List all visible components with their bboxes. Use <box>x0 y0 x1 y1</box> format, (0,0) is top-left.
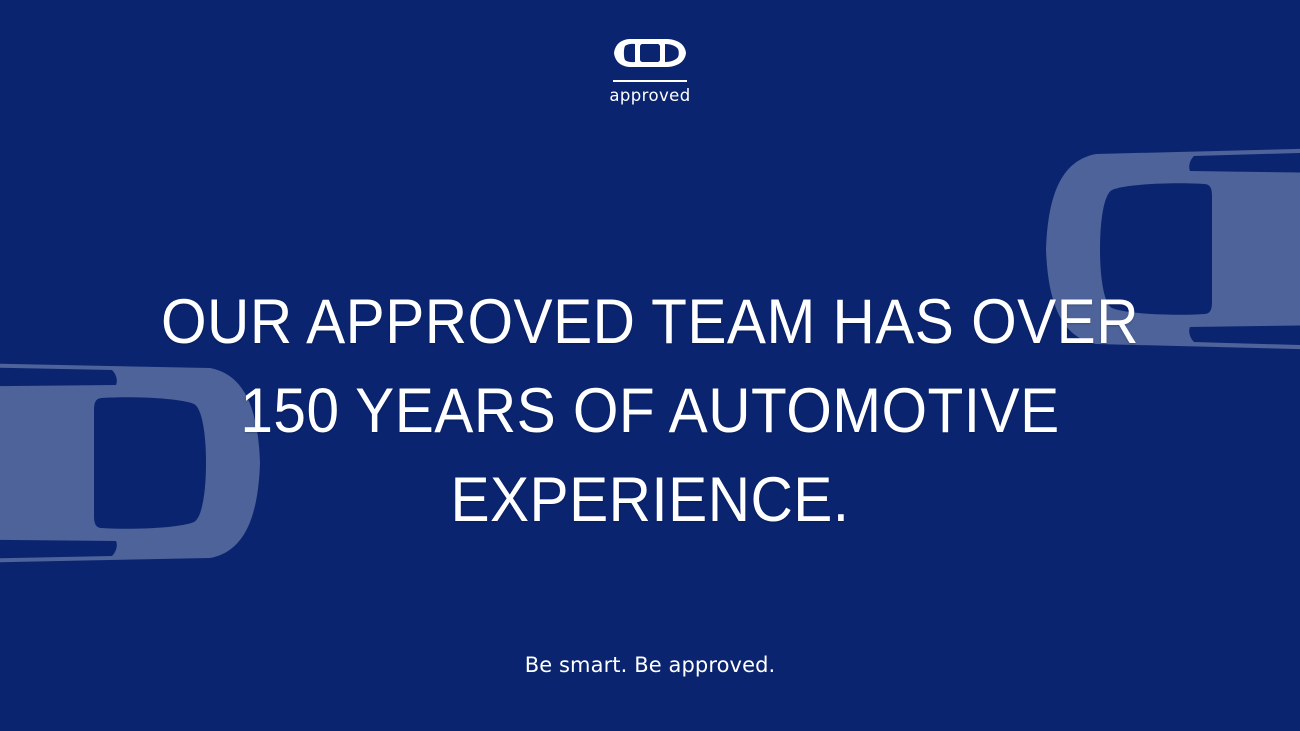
slide-canvas: approved OUR APPROVED TEAM HAS OVER 150 … <box>0 0 1300 731</box>
car-top-view-icon <box>613 38 687 73</box>
brand-logo: approved <box>0 38 1300 106</box>
headline-line-3: EXPERIENCE. <box>46 456 1255 545</box>
tagline: Be smart. Be approved. <box>0 653 1300 677</box>
headline-line-2: 150 YEARS OF AUTOMOTIVE <box>46 367 1255 456</box>
logo-divider <box>613 80 687 82</box>
headline-line-1: OUR APPROVED TEAM HAS OVER <box>46 278 1255 367</box>
headline: OUR APPROVED TEAM HAS OVER 150 YEARS OF … <box>0 278 1300 545</box>
logo-wordmark: approved <box>609 86 690 107</box>
